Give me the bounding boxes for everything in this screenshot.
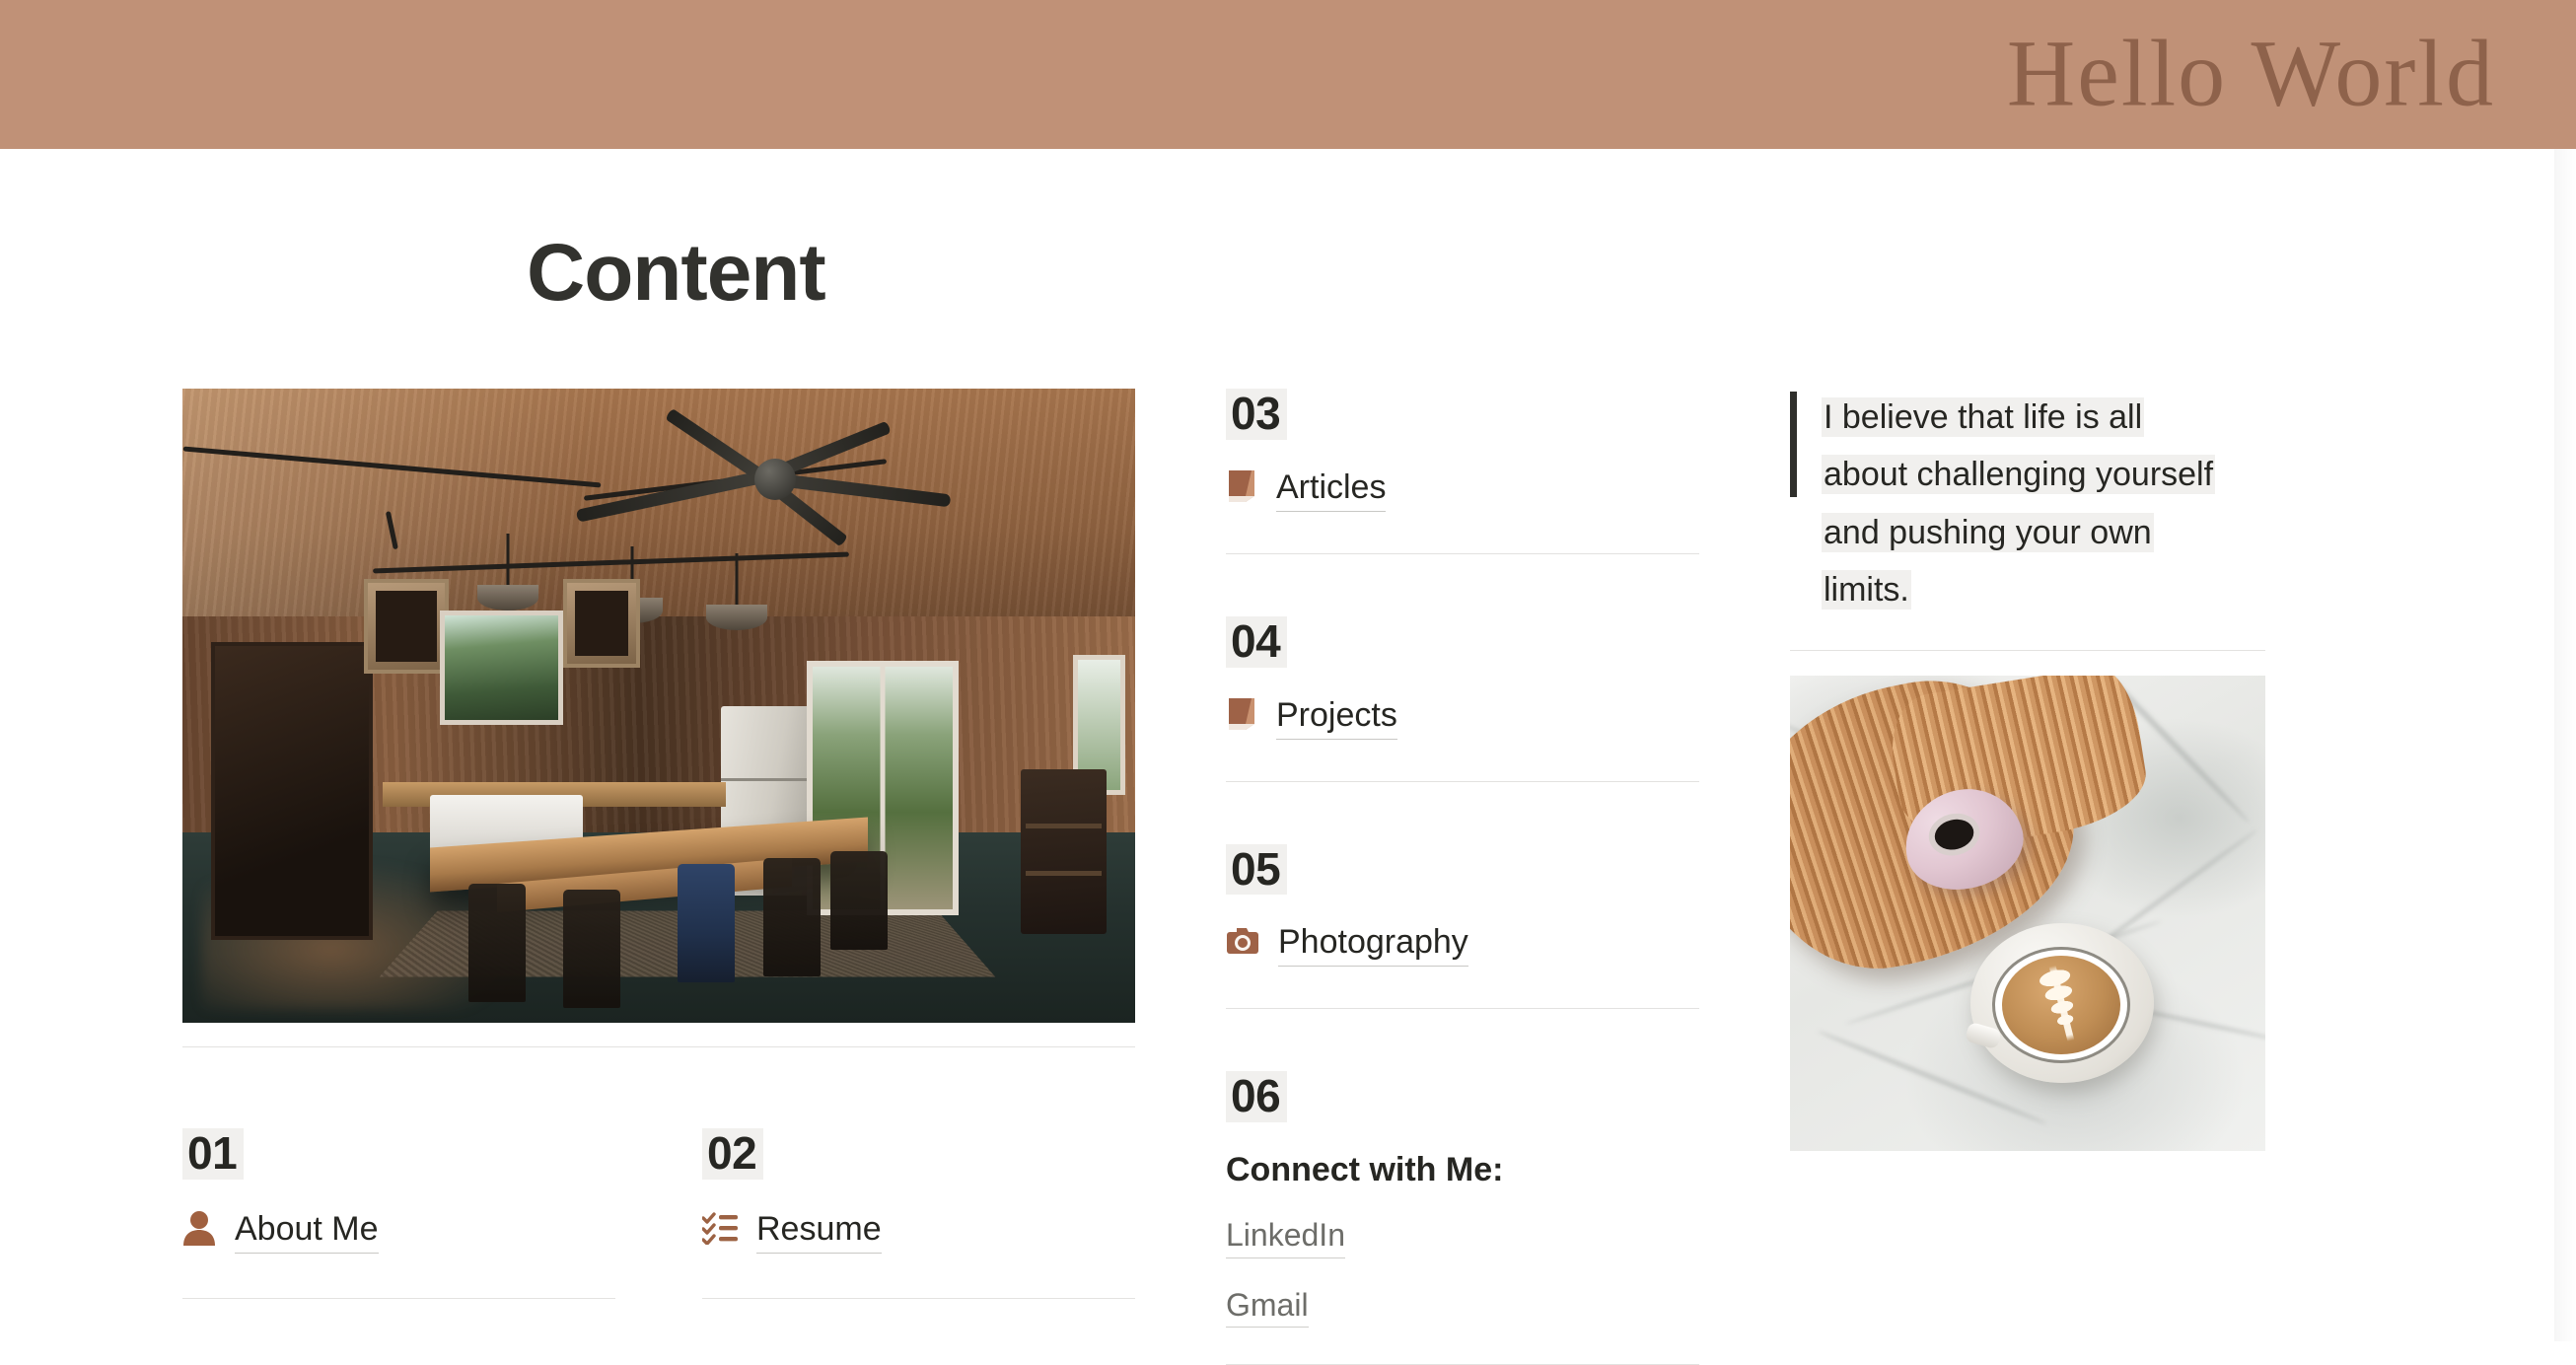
connect-section: 06 Connect with Me: LinkedIn Gmail	[1226, 1071, 1699, 1364]
list-item-label[interactable]: About Me	[235, 1207, 379, 1254]
quote-text-wrapper: I believe that life is all about challen…	[1822, 389, 2231, 619]
camera-icon	[1226, 927, 1259, 960]
item-divider	[702, 1298, 1135, 1299]
item-number-05: 05	[1226, 844, 1287, 896]
list-item-articles[interactable]: 03 Articles	[1226, 389, 1699, 554]
book-icon	[1226, 697, 1257, 736]
quote-text: I believe that life is all about challen…	[1822, 397, 2215, 610]
item-divider	[182, 1298, 615, 1299]
list-item-about-me[interactable]: 01 About Me	[182, 1128, 615, 1299]
list-item-photography[interactable]: 05 Photography	[1226, 844, 1699, 1010]
list-item-label[interactable]: Resume	[756, 1207, 882, 1254]
item-divider	[1226, 1008, 1699, 1009]
coffee-marble-photo	[1790, 676, 2265, 1151]
page-body: Content	[0, 149, 2576, 1341]
item-number-02: 02	[702, 1128, 763, 1180]
item-number-01: 01	[182, 1128, 244, 1180]
list-item-resume[interactable]: 02 Resume	[702, 1128, 1135, 1299]
link-gmail[interactable]: Gmail	[1226, 1284, 1309, 1328]
site-title: Hello World	[2007, 18, 2495, 127]
list-item-label[interactable]: Photography	[1278, 920, 1468, 967]
site-header-banner: Hello World	[0, 0, 2576, 149]
checklist-icon	[702, 1211, 738, 1250]
left-photo-divider	[182, 1046, 1135, 1047]
list-item-label[interactable]: Projects	[1276, 693, 1397, 740]
item-divider	[1226, 553, 1699, 554]
item-number-03: 03	[1226, 389, 1287, 440]
person-icon	[182, 1210, 216, 1251]
item-number-04: 04	[1226, 616, 1287, 668]
list-item-projects[interactable]: 04 Projects	[1226, 616, 1699, 782]
quote-accent-bar	[1790, 392, 1797, 497]
item-divider	[1226, 781, 1699, 782]
middle-column: 03 Articles 04	[1226, 389, 1699, 1365]
connect-heading: Connect with Me:	[1226, 1148, 1699, 1191]
quote-divider	[1790, 650, 2265, 651]
quote-block: I believe that life is all about challen…	[1790, 389, 2265, 619]
kitchen-dining-room-photo	[182, 389, 1135, 1023]
list-item-label[interactable]: Articles	[1276, 466, 1386, 512]
item-number-06: 06	[1226, 1071, 1287, 1122]
left-column: 01 About Me 02	[182, 389, 1135, 1299]
link-linkedin[interactable]: LinkedIn	[1226, 1214, 1345, 1257]
left-link-row: 01 About Me 02	[182, 1128, 1135, 1299]
right-column: I believe that life is all about challen…	[1790, 389, 2265, 1151]
book-icon	[1226, 469, 1257, 508]
page-title: Content	[527, 233, 825, 314]
